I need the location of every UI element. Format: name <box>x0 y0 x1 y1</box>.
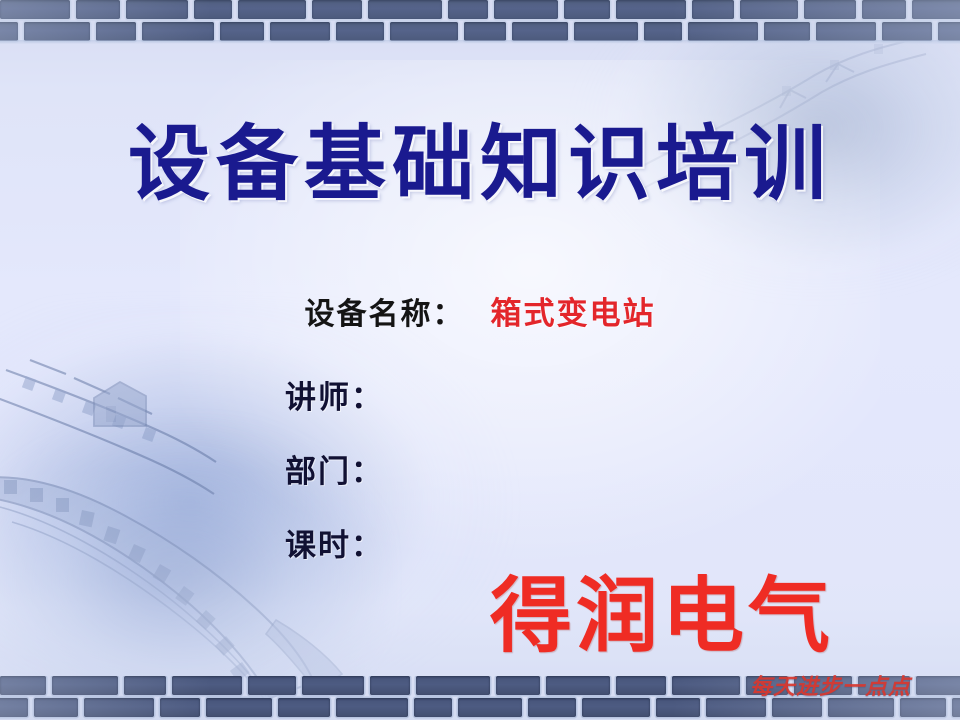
class-hours-label: 课时： <box>285 520 384 565</box>
slide-content: 设备基础知识培训 设备名称：箱式变电站 讲师： 部门： 课时： 得润电气 每天进… <box>0 0 960 720</box>
device-name-value: 箱式变电站 <box>491 296 656 331</box>
presentation-title-slide: 设备基础知识培训 设备名称：箱式变电站 讲师： 部门： 课时： 得润电气 每天进… <box>0 0 960 720</box>
department-label: 部门： <box>285 446 384 491</box>
course-info-block: 讲师： 部门： 课时： <box>285 372 384 594</box>
company-logo: 得润电气 每天进步一点点 <box>480 576 950 716</box>
company-tagline: 每天进步一点点 <box>750 669 911 701</box>
company-name: 得润电气 <box>490 576 834 658</box>
instructor-label: 讲师： <box>285 372 384 417</box>
page-title: 设备基础知识培训 <box>0 122 960 208</box>
device-name-label: 设备名称： <box>305 298 465 331</box>
device-name-line: 设备名称：箱式变电站 <box>0 288 960 333</box>
